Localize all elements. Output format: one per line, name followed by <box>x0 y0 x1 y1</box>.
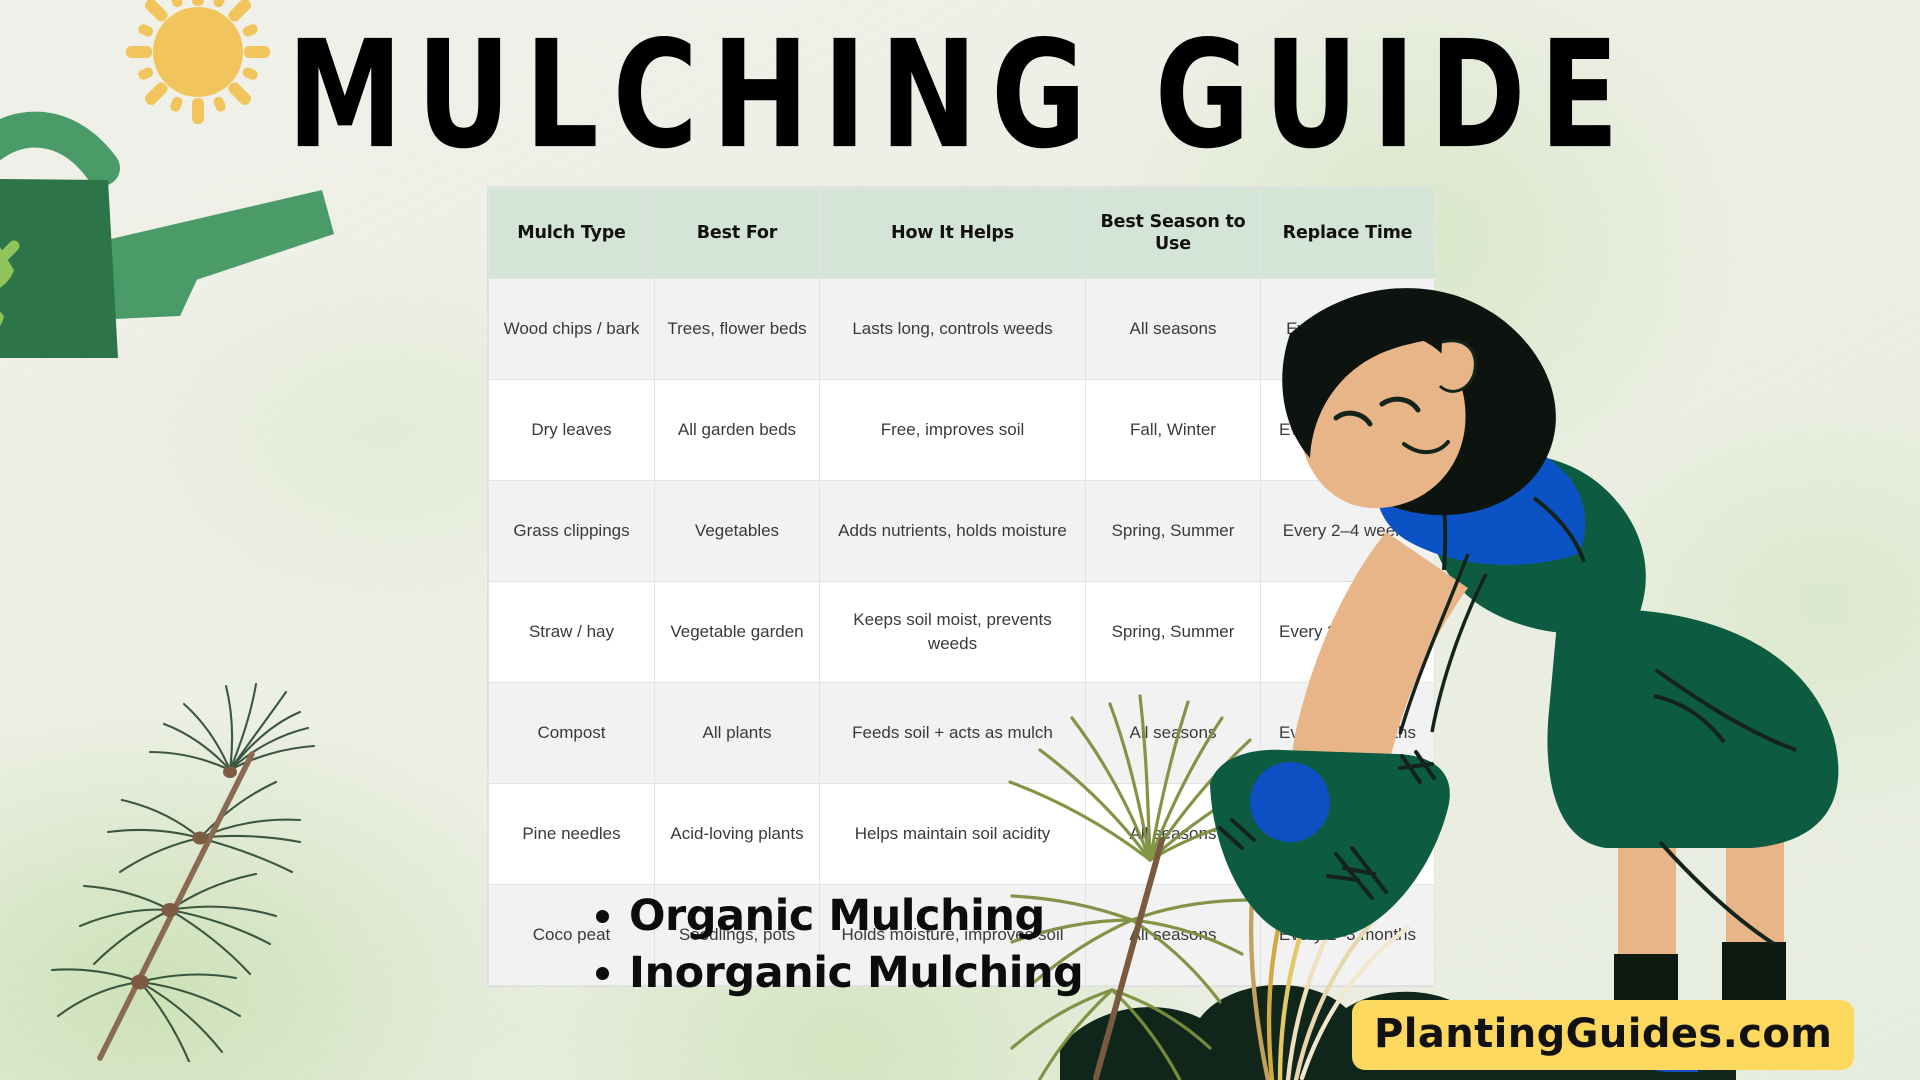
cell-mulch-type: Wood chips / bark <box>489 279 655 380</box>
table-header-row: Mulch Type Best For How It Helps Best Se… <box>489 188 1435 279</box>
cell-how-it-helps: Feeds soil + acts as mulch <box>820 683 1086 784</box>
cell-mulch-type: Compost <box>489 683 655 784</box>
cell-replace-time: Every 3–4 months <box>1261 582 1435 683</box>
table-body: Wood chips / bark Trees, flower beds Las… <box>489 279 1435 986</box>
cell-mulch-type: Straw / hay <box>489 582 655 683</box>
cell-best-for: Vegetables <box>655 481 820 582</box>
cell-best-season: All seasons <box>1086 885 1261 986</box>
cell-mulch-type: Dry leaves <box>489 380 655 481</box>
mulch-table-container: Mulch Type Best For How It Helps Best Se… <box>487 186 1435 987</box>
cell-how-it-helps: Adds nutrients, holds moisture <box>820 481 1086 582</box>
cell-how-it-helps: Free, improves soil <box>820 380 1086 481</box>
cell-best-for: Vegetable garden <box>655 582 820 683</box>
cell-best-for: Trees, flower beds <box>655 279 820 380</box>
cell-best-for: All plants <box>655 683 820 784</box>
mulch-table: Mulch Type Best For How It Helps Best Se… <box>488 187 1435 986</box>
table-header: Mulch Type Best For How It Helps Best Se… <box>489 188 1435 279</box>
poster-canvas: MULCHING GUIDE Mulch Type Best For How I… <box>0 0 1920 1080</box>
list-item: Inorganic Mulching <box>596 945 1083 1002</box>
mulching-type-list: Organic Mulching Inorganic Mulching <box>596 888 1083 1002</box>
cell-best-for: All garden beds <box>655 380 820 481</box>
cell-mulch-type: Pine needles <box>489 784 655 885</box>
cell-best-for: Acid-loving plants <box>655 784 820 885</box>
column-header-how-it-helps: How It Helps <box>820 188 1086 279</box>
column-header-mulch-type: Mulch Type <box>489 188 655 279</box>
cell-best-season: All seasons <box>1086 683 1261 784</box>
column-header-replace-time: Replace Time <box>1261 188 1435 279</box>
cell-replace-time: Every 2–3 months <box>1261 885 1435 986</box>
cell-replace-time: Every 6–12 months <box>1261 784 1435 885</box>
site-badge[interactable]: PlantingGuides.com <box>1352 1000 1854 1070</box>
table-row: Compost All plants Feeds soil + acts as … <box>489 683 1435 784</box>
table-row: Dry leaves All garden beds Free, improve… <box>489 380 1435 481</box>
cell-best-season: Spring, Summer <box>1086 481 1261 582</box>
page-title: MULCHING GUIDE <box>0 22 1920 170</box>
table-row: Pine needles Acid-loving plants Helps ma… <box>489 784 1435 885</box>
list-item-label: Inorganic Mulching <box>629 945 1083 1002</box>
cell-best-season: Fall, Winter <box>1086 380 1261 481</box>
cell-replace-time: Every 1–2 years <box>1261 279 1435 380</box>
cell-best-season: All seasons <box>1086 784 1261 885</box>
list-item-label: Organic Mulching <box>629 888 1045 945</box>
bullet-dot-icon <box>596 910 609 923</box>
list-item: Organic Mulching <box>596 888 1083 945</box>
table-row: Wood chips / bark Trees, flower beds Las… <box>489 279 1435 380</box>
table-row: Straw / hay Vegetable garden Keeps soil … <box>489 582 1435 683</box>
column-header-best-for: Best For <box>655 188 820 279</box>
cell-how-it-helps: Keeps soil moist, prevents weeds <box>820 582 1086 683</box>
table-row: Grass clippings Vegetables Adds nutrient… <box>489 481 1435 582</box>
bullet-dot-icon <box>596 967 609 980</box>
cell-replace-time: Every 2–4 weeks <box>1261 481 1435 582</box>
cell-how-it-helps: Helps maintain soil acidity <box>820 784 1086 885</box>
column-header-best-season: Best Season to Use <box>1086 188 1261 279</box>
cell-mulch-type: Grass clippings <box>489 481 655 582</box>
cell-best-season: All seasons <box>1086 279 1261 380</box>
cell-how-it-helps: Lasts long, controls weeds <box>820 279 1086 380</box>
cell-best-season: Spring, Summer <box>1086 582 1261 683</box>
cell-replace-time: Every 2–3 months <box>1261 380 1435 481</box>
cell-replace-time: Every 2–3 months <box>1261 683 1435 784</box>
